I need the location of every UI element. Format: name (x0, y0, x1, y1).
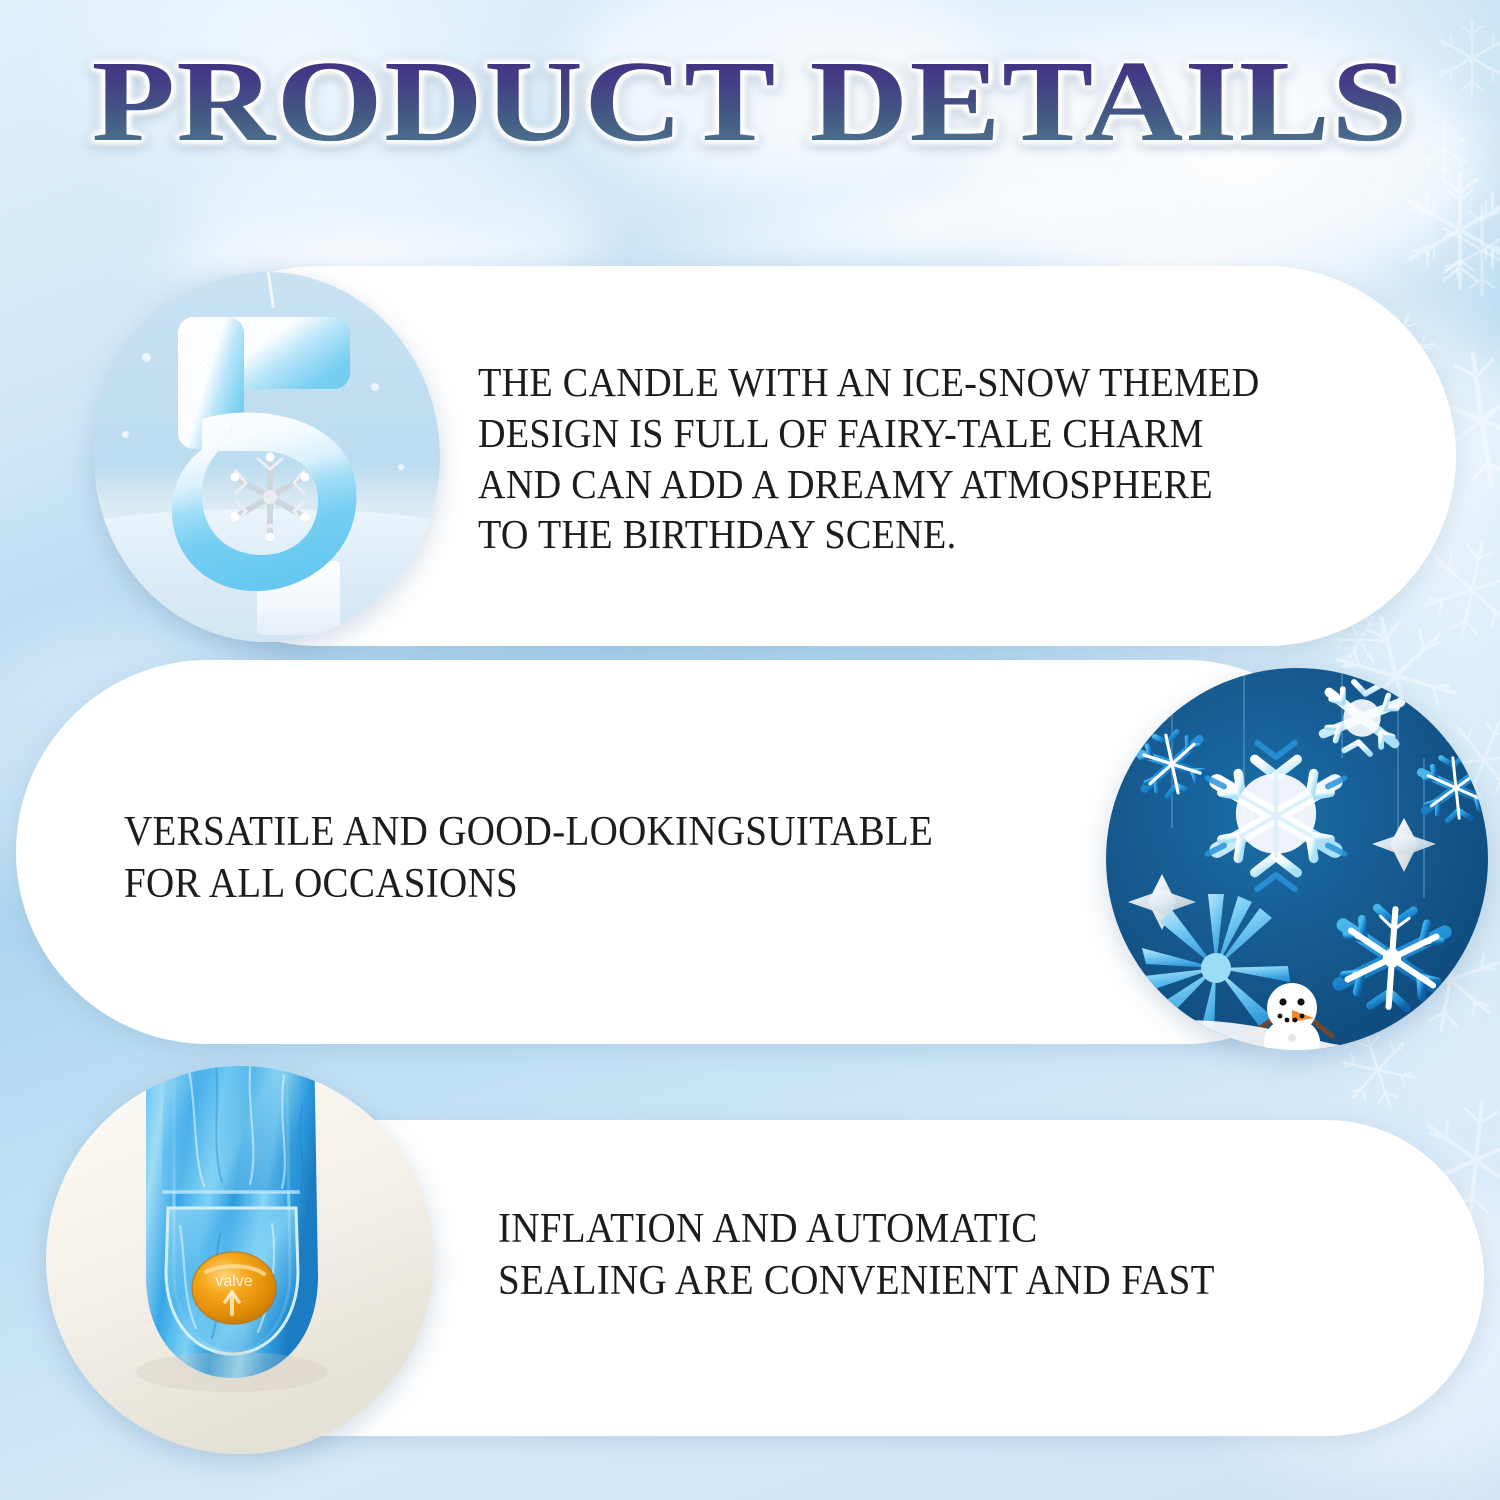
feature-text-1: THE CANDLE WITH AN ICE-SNOW THEMED DESIG… (478, 357, 1408, 560)
balloon-self-sealing-valve-photo: valve (46, 1066, 434, 1454)
bokeh-dot (398, 464, 404, 470)
snowflake-balloon-icon (1208, 743, 1345, 889)
number-five-candle-icon (142, 301, 392, 601)
feature-text-2: VERSATILE AND GOOD-LOOKINGSUITABLE FOR A… (124, 806, 1091, 910)
snowflake-balloon-icon (1337, 895, 1447, 1020)
valve-label: valve (215, 1273, 252, 1290)
snowflake-charm-icon (231, 453, 310, 542)
balloon-valve-illustration: valve (46, 1066, 434, 1454)
product-details-infographic: PRODUCT DETAILS (0, 0, 1500, 1500)
feature-text-3: INFLATION AND AUTOMATIC SEALING ARE CONV… (498, 1203, 1363, 1307)
bokeh-dot (122, 431, 129, 438)
snowflake-balloon-set-photo (1106, 668, 1488, 1050)
snowflake-balloon-icon (1419, 746, 1488, 829)
snowflake-balloon-icon (1321, 672, 1404, 765)
number-five-snowflake-candle-photo (94, 272, 440, 642)
page-title: PRODUCT DETAILS (91, 44, 1408, 160)
star-balloon-icon (1372, 818, 1436, 872)
snowflake-balloon-icon (1133, 721, 1211, 807)
page-title-wrapper: PRODUCT DETAILS (0, 44, 1500, 160)
valve-icon: valve (192, 1252, 276, 1324)
snowflake-balloons-illustration (1106, 668, 1488, 1050)
